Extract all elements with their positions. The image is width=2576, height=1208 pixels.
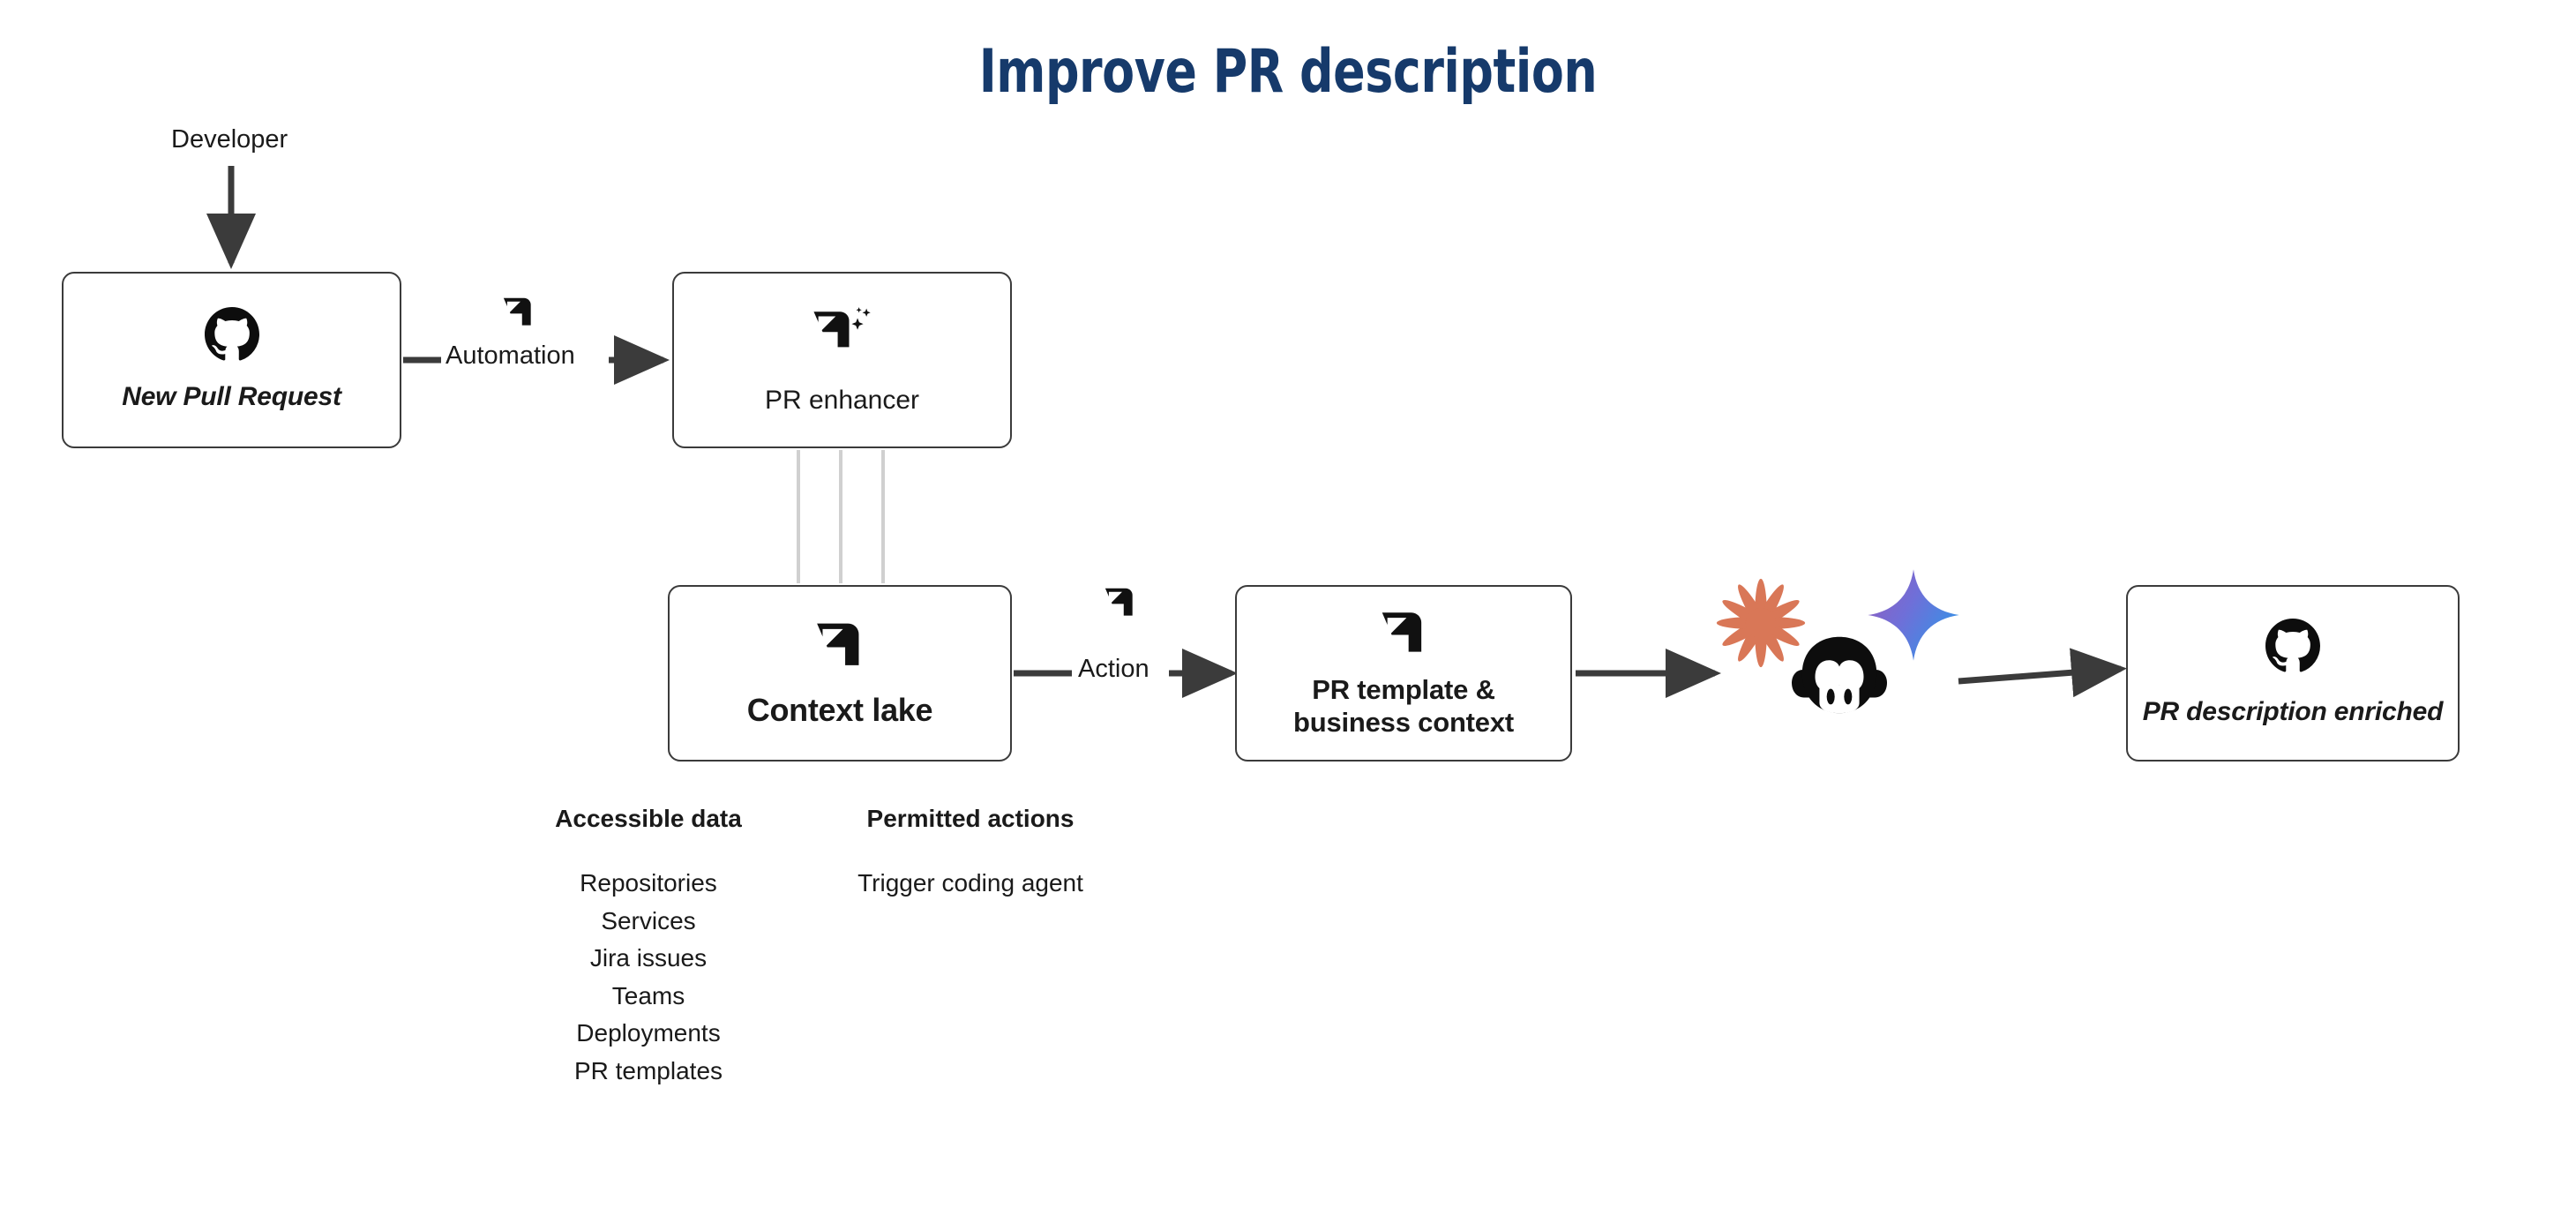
- edge-label-automation: Automation: [446, 341, 575, 371]
- list-item: Trigger coding agent: [785, 865, 1156, 903]
- node-label-line2: business context: [1293, 707, 1514, 739]
- node-pr-template[interactable]: PR template & business context: [1235, 585, 1572, 762]
- column-title: Accessible data: [512, 805, 785, 833]
- list-item: PR templates: [512, 1053, 785, 1091]
- list-item: Repositories: [512, 865, 785, 903]
- github-icon: [205, 307, 259, 362]
- column-permitted-actions: Permitted actions Trigger coding agent: [785, 805, 1156, 903]
- node-label: New Pull Request: [122, 381, 341, 412]
- column-title: Permitted actions: [785, 805, 1156, 833]
- agent-icon: [498, 294, 537, 337]
- node-new-pull-request[interactable]: New Pull Request: [62, 272, 401, 448]
- node-label: Context lake: [747, 692, 932, 729]
- agent-icon: [1376, 607, 1431, 662]
- gemini-sparkle-icon: [1865, 566, 1962, 668]
- list-item: Teams: [512, 978, 785, 1016]
- column-accessible-data: Accessible data Repositories Services Ji…: [512, 805, 785, 1090]
- edge-label-action: Action: [1078, 655, 1149, 684]
- agent-icon: [811, 618, 869, 676]
- list-item: Deployments: [512, 1015, 785, 1053]
- agent-sparkle-icon: [808, 304, 877, 358]
- node-label: PR enhancer: [765, 385, 919, 416]
- node-pr-description-enriched[interactable]: PR description enriched: [2126, 585, 2460, 762]
- diagram-canvas: Improve PR description D: [0, 0, 2576, 1208]
- agent-icon: [1100, 584, 1139, 627]
- github-icon: [2265, 619, 2320, 673]
- node-label: PR description enriched: [2143, 696, 2443, 727]
- arrow-models-to-enriched: [1958, 669, 2121, 681]
- node-pr-enhancer[interactable]: PR enhancer: [672, 272, 1012, 448]
- page-title: Improve PR description: [154, 37, 2422, 107]
- list-item: Jira issues: [512, 940, 785, 978]
- node-context-lake[interactable]: Context lake: [668, 585, 1012, 762]
- node-label-line1: PR template &: [1312, 674, 1495, 707]
- edge-label-developer: Developer: [171, 125, 288, 154]
- list-item: Services: [512, 903, 785, 941]
